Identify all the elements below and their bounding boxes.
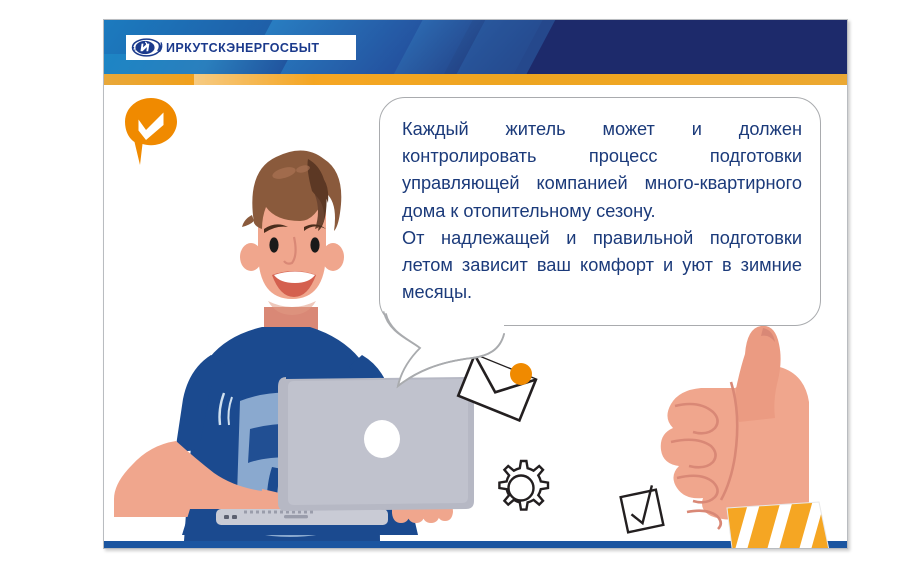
slide-root: ИРКУТСКЭНЕРГОСБЫТ (0, 0, 900, 563)
speech-bubble-tail (376, 310, 506, 420)
speech-bubble-text: Каждый житель может и должен контролиров… (402, 116, 802, 306)
poster-card: ИРКУТСКЭНЕРГОСБЫТ (103, 19, 848, 549)
header-orange-rule (104, 74, 848, 85)
gear-icon (491, 458, 551, 518)
poster-canvas: Каждый житель может и должен контролиров… (104, 85, 848, 549)
speech-bubble: Каждый житель может и должен контролиров… (379, 97, 821, 326)
brand-header: ИРКУТСКЭНЕРГОСБЫТ (104, 20, 848, 74)
checkbox-checked-icon (616, 485, 668, 537)
company-name-label: ИРКУТСКЭНЕРГОСБЫТ (166, 41, 319, 55)
irkutskenergosbyt-emblem (130, 38, 163, 57)
logo-plate: ИРКУТСКЭНЕРГОСБЫТ (126, 35, 356, 60)
envelope-badge-dot (510, 363, 532, 385)
